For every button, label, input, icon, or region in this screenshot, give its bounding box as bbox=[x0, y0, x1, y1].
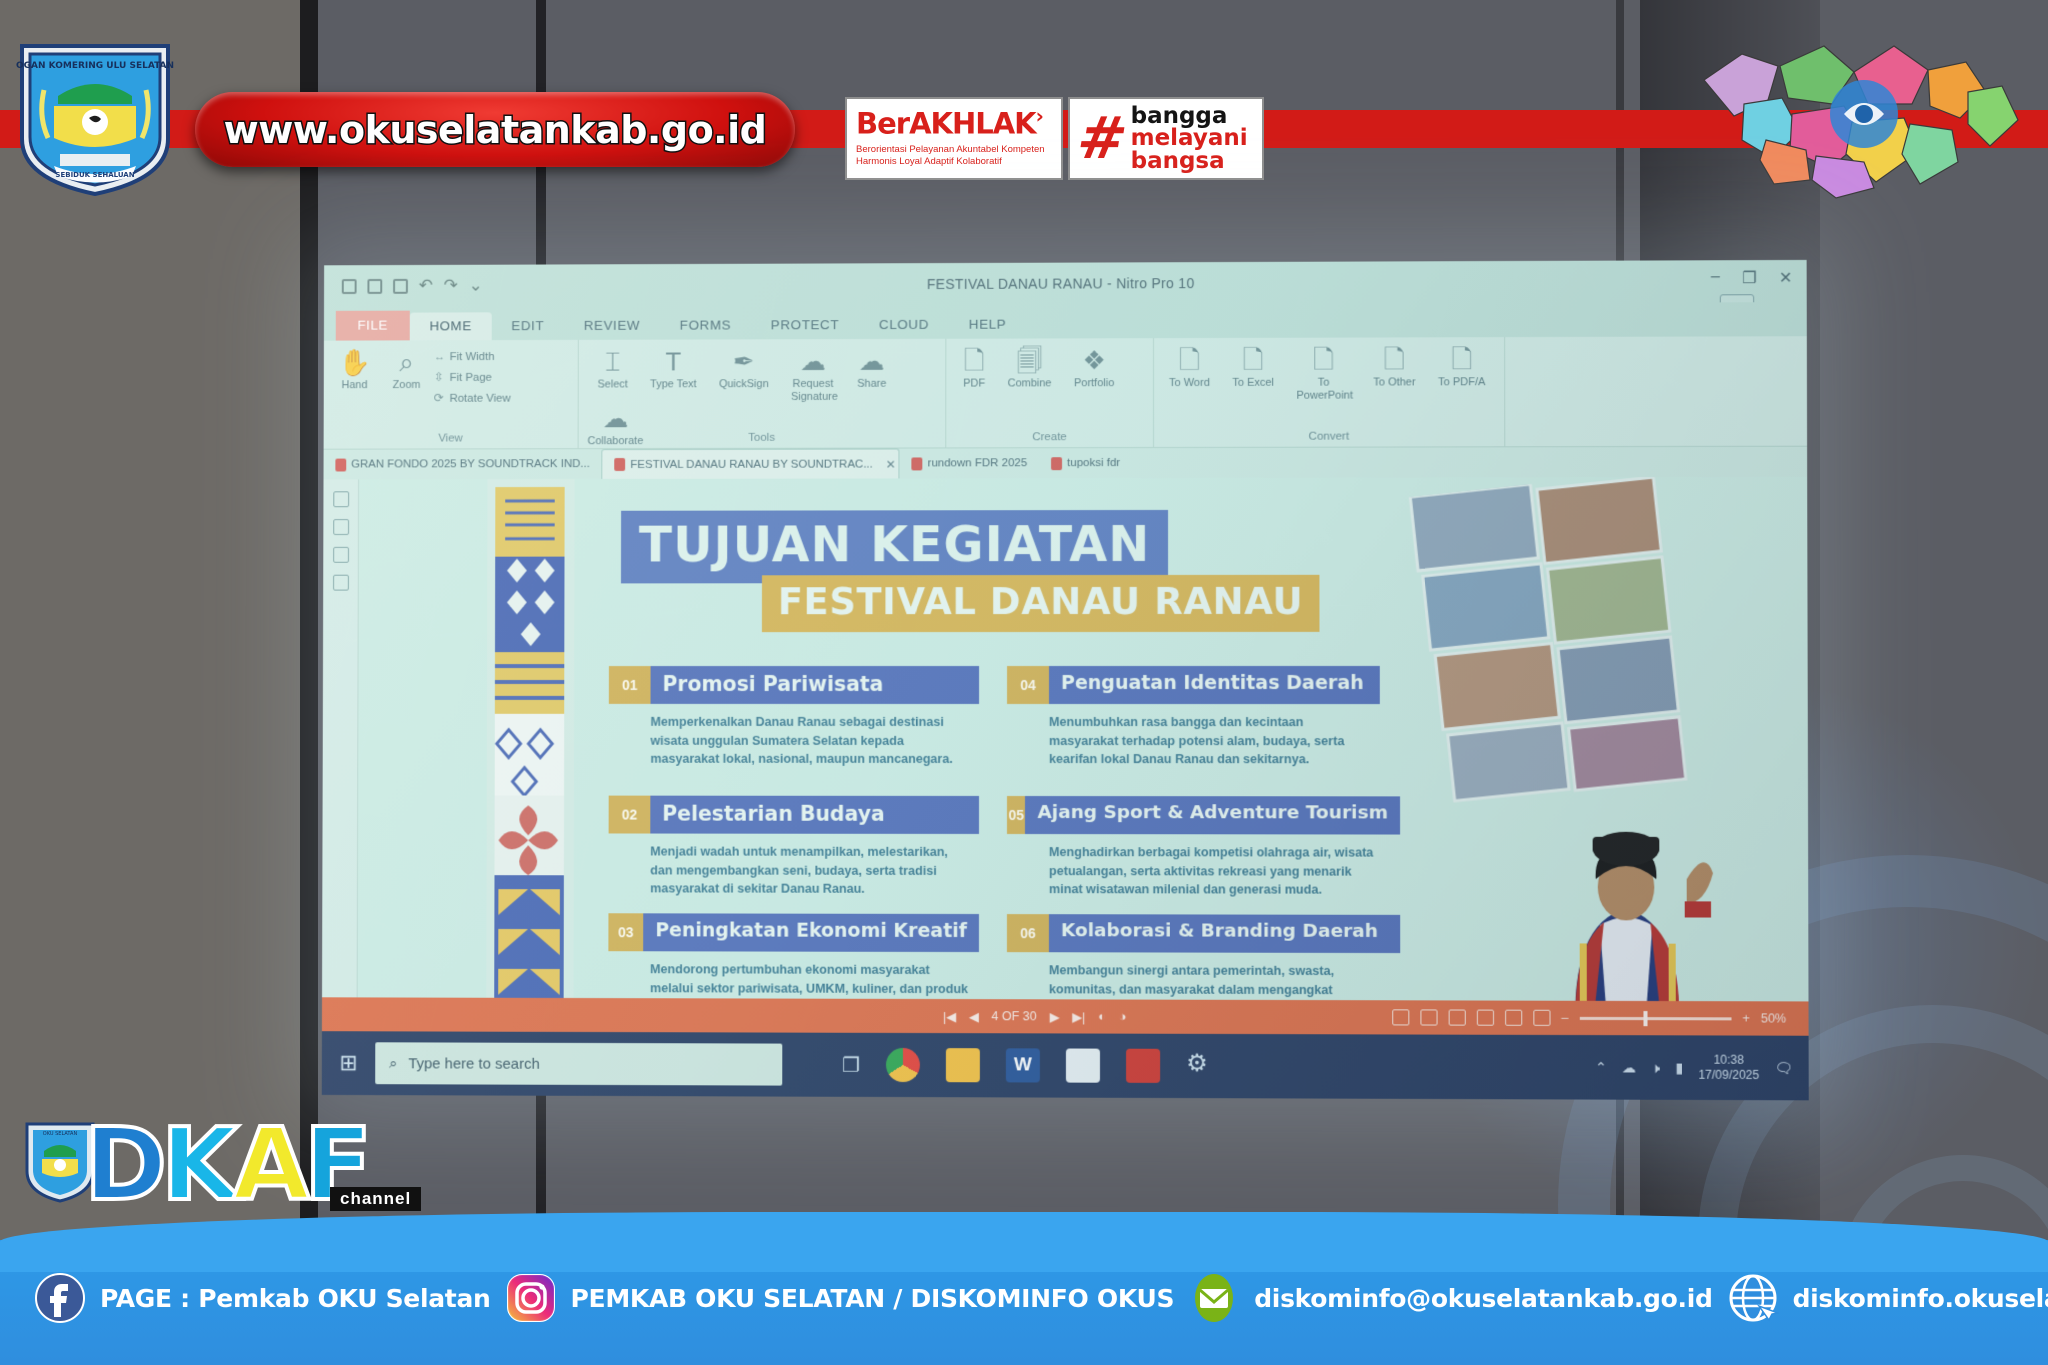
to-pdfa-icon: 🗋 bbox=[1438, 344, 1485, 374]
type-text-icon: T bbox=[650, 346, 697, 376]
continuous-icon[interactable] bbox=[1420, 1009, 1437, 1025]
fit-page-icon[interactable] bbox=[1505, 1010, 1522, 1026]
window-title: FESTIVAL DANAU RANAU - Nitro Pro 10 bbox=[324, 273, 1807, 294]
windows-start-icon[interactable]: ⊞ bbox=[322, 1050, 375, 1076]
next-page-icon[interactable]: ▶ bbox=[1050, 1009, 1060, 1024]
slide-canvas: TUJUAN KEGIATAN FESTIVAL DANAU RANAU 01 … bbox=[358, 477, 1809, 1036]
hand-icon: ✋ bbox=[339, 347, 371, 377]
next-view-icon[interactable]: ◑ bbox=[1119, 1010, 1127, 1024]
pdf-viewer: TUJUAN KEGIATAN FESTIVAL DANAU RANAU 01 … bbox=[322, 477, 1809, 1036]
hashtag-icon: # bbox=[1074, 115, 1130, 161]
clock-date: 17/09/2025 bbox=[1698, 1068, 1759, 1083]
to-other-label: To Other bbox=[1373, 376, 1415, 389]
select-label: Select bbox=[598, 378, 628, 391]
dkaf-letter-a: A bbox=[233, 1106, 304, 1223]
request-signature-label: Request Signature bbox=[791, 378, 835, 403]
website-icon[interactable] bbox=[1727, 1272, 1779, 1324]
footer-curve bbox=[0, 1212, 2048, 1272]
ribbon-hand-tool[interactable]: ✋ Hand bbox=[330, 347, 380, 391]
goal-description: Menghadirkan berbagai kompetisi olahraga… bbox=[1049, 843, 1386, 900]
website-url-badge[interactable]: www.okuselatankab.go.id bbox=[195, 92, 795, 167]
nitro-file-icon bbox=[615, 458, 626, 471]
document-tab-label: FESTIVAL DANAU RANAU BY SOUNDTRAC... bbox=[630, 458, 872, 470]
page-indicator[interactable]: 4 OF 30 bbox=[991, 1009, 1036, 1023]
ribbon-group-convert: 🗋To Word 🗋To Excel 🗋To PowerPoint 🗋To Ot… bbox=[1154, 337, 1505, 448]
ribbon-tab-strip[interactable]: FILEHOMEEDITREVIEWFORMSPROTECTCLOUDHELP bbox=[324, 302, 1807, 341]
nitro-file-icon bbox=[912, 457, 923, 470]
document-tab-strip[interactable]: GRAN FONDO 2025 BY SOUNDTRACK IND...FEST… bbox=[324, 447, 1808, 480]
dkaf-letter-k: K bbox=[161, 1106, 233, 1223]
ribbon-tab-forms[interactable]: FORMS bbox=[660, 312, 751, 340]
two-page-icon[interactable] bbox=[1448, 1009, 1465, 1025]
berakhlak-title: BerAKHLAK› bbox=[856, 106, 1052, 139]
bangga-word-1: bangga bbox=[1131, 105, 1248, 128]
ribbon-fit-width[interactable]: ↔Fit Width bbox=[434, 351, 511, 363]
goal-number: 04 bbox=[1007, 666, 1049, 704]
document-tab[interactable]: FESTIVAL DANAU RANAU BY SOUNDTRAC...✕ bbox=[602, 449, 900, 479]
ribbon-type-text-tool[interactable]: TType Text bbox=[641, 346, 705, 390]
fit-width-icon[interactable] bbox=[1533, 1010, 1550, 1026]
zoom-out-icon[interactable]: – bbox=[1561, 1011, 1568, 1025]
to-excel-label: To Excel bbox=[1232, 377, 1274, 390]
bangga-word-2: melayani bbox=[1131, 127, 1248, 150]
goal-number: 02 bbox=[609, 796, 651, 834]
social-links[interactable]: PAGE : Pemkab OKU Selatan PEMKAB OKU SEL… bbox=[0, 1272, 2048, 1324]
ribbon-tab-cloud[interactable]: CLOUD bbox=[859, 311, 949, 339]
goal-item-04: 04 Penguatan Identitas Daerah Menumbuhka… bbox=[1007, 666, 1380, 769]
search-placeholder: Type here to search bbox=[408, 1055, 539, 1072]
pdf-status-bar[interactable]: |◀ ◀ 4 OF 30 ▶ ▶| ◐ ◑ – + 50% bbox=[322, 997, 1809, 1035]
pdf-icon: 🗋 bbox=[963, 346, 985, 376]
select-icon: ⌶ bbox=[598, 347, 628, 377]
goal-head: 04 Penguatan Identitas Daerah bbox=[1007, 666, 1380, 704]
pdf-side-pane[interactable] bbox=[322, 479, 359, 1031]
to-other-icon: 🗋 bbox=[1373, 344, 1415, 374]
fit-page-label: Fit Page bbox=[450, 372, 492, 384]
nitro-pro-icon[interactable] bbox=[1126, 1049, 1160, 1083]
ribbon-view-stack[interactable]: ↔Fit Width ⇳Fit Page ⟳Rotate View bbox=[434, 347, 511, 412]
close-button[interactable]: ✕ bbox=[1779, 268, 1793, 288]
zoom-slider[interactable] bbox=[1579, 1016, 1731, 1019]
to-powerpoint-icon: 🗋 bbox=[1296, 345, 1350, 375]
rotate-view-icon: ⟳ bbox=[434, 391, 450, 405]
svg-text:SEBIDUK SEHALUAN: SEBIDUK SEHALUAN bbox=[55, 171, 134, 179]
share-icon: ☁ bbox=[857, 346, 886, 376]
document-tab-label: GRAN FONDO 2025 BY SOUNDTRACK IND... bbox=[351, 458, 590, 470]
berakhlak-logo: BerAKHLAK› Berorientasi Pelayanan Akunta… bbox=[845, 97, 1063, 180]
word-icon[interactable]: W bbox=[1006, 1048, 1040, 1082]
document-tab-label: rundown FDR 2025 bbox=[928, 457, 1027, 469]
pdf-label: PDF bbox=[963, 378, 985, 391]
prev-page-icon[interactable]: ◀ bbox=[969, 1009, 979, 1024]
task-view-icon[interactable]: ❐ bbox=[842, 1052, 860, 1077]
goal-title: Peningkatan Ekonomi Kreatif bbox=[643, 913, 979, 952]
document-tab[interactable]: rundown FDR 2025 bbox=[900, 448, 1039, 478]
ribbon-to-excel[interactable]: 🗋To Excel bbox=[1223, 345, 1283, 390]
to-pdfa-label: To PDF/A bbox=[1438, 376, 1485, 389]
ribbon-tab-protect[interactable]: PROTECT bbox=[751, 311, 859, 339]
document-tab-label: tupoksi fdr bbox=[1067, 457, 1120, 469]
slide-subtitle-banner: FESTIVAL DANAU RANAU bbox=[762, 575, 1319, 632]
nitro-file-icon bbox=[335, 458, 346, 471]
slide-subtitle: FESTIVAL DANAU RANAU bbox=[778, 580, 1303, 623]
ribbon-body: ✋ Hand ⌕ Zoom ↔Fit Width ⇳Fit Page ⟳Rota… bbox=[324, 336, 1807, 449]
share-label: Share bbox=[857, 378, 886, 391]
bangga-words: bangga melayani bangsa bbox=[1131, 105, 1248, 173]
svg-text:OKU SELATAN: OKU SELATAN bbox=[43, 1131, 78, 1137]
taskbar-apps[interactable]: ❐ W ⚙ bbox=[842, 1048, 1220, 1083]
bangga-word-3: bangsa bbox=[1131, 150, 1248, 173]
goal-number: 06 bbox=[1007, 914, 1049, 952]
pages-panel-icon[interactable] bbox=[333, 491, 349, 507]
bangga-melayani-bangsa-logo: # bangga melayani bangsa bbox=[1068, 97, 1264, 180]
ribbon-group-view: ✋ Hand ⌕ Zoom ↔Fit Width ⇳Fit Page ⟳Rota… bbox=[324, 340, 579, 450]
search-input[interactable]: ⌕ Type here to search bbox=[375, 1042, 782, 1085]
goal-title: Penguatan Identitas Daerah bbox=[1049, 666, 1380, 704]
to-powerpoint-label: To PowerPoint bbox=[1296, 377, 1350, 402]
ribbon-tab-review[interactable]: REVIEW bbox=[564, 312, 660, 340]
goal-title: Pelestarian Budaya bbox=[650, 796, 979, 834]
ribbon-request-signature-tool[interactable]: ☁Request Signature bbox=[782, 346, 844, 403]
page-navigation[interactable]: |◀ ◀ 4 OF 30 ▶ ▶| ◐ ◑ bbox=[943, 1009, 1126, 1025]
fit-page-icon: ⇳ bbox=[434, 370, 450, 384]
ribbon-group-tools-name: Tools bbox=[579, 431, 946, 444]
footer-bar: PAGE : Pemkab OKU Selatan PEMKAB OKU SEL… bbox=[0, 1240, 2048, 1365]
ribbon-hand-label: Hand bbox=[339, 379, 371, 391]
svg-text:OGAN KOMERING ULU SELATAN: OGAN KOMERING ULU SELATAN bbox=[16, 61, 174, 71]
ribbon-zoom-tool[interactable]: ⌕ Zoom bbox=[384, 347, 430, 391]
goal-description: Menjadi wadah untuk menampilkan, melesta… bbox=[650, 843, 969, 899]
notepad-icon[interactable] bbox=[1066, 1048, 1100, 1082]
zoom-in-icon[interactable]: + bbox=[1742, 1011, 1749, 1025]
facebook-text[interactable]: PAGE : Pemkab OKU Selatan bbox=[100, 1284, 491, 1313]
fit-width-label: Fit Width bbox=[450, 351, 495, 363]
berakhlak-tick-icon: › bbox=[1036, 104, 1043, 128]
first-page-icon[interactable]: |◀ bbox=[943, 1009, 956, 1024]
collaborate-icon: ☁ bbox=[588, 403, 644, 433]
request-signature-icon: ☁ bbox=[791, 346, 835, 376]
show-hidden-icon[interactable]: ⌃ bbox=[1595, 1059, 1607, 1076]
ribbon-group-create: 🗋PDF 🗐Combine ❖Portfolio Create bbox=[946, 338, 1154, 448]
volume-muted-icon[interactable]: 🕨 bbox=[1651, 1059, 1660, 1076]
berakhlak-title-text: BerAKHLAK bbox=[856, 107, 1036, 141]
ribbon-group-tools: ⌶Select TType Text ✒QuickSign ☁Request S… bbox=[579, 339, 947, 449]
view-and-zoom-controls[interactable]: – + 50% bbox=[1392, 1009, 1786, 1026]
document-tab[interactable]: GRAN FONDO 2025 BY SOUNDTRACK IND... bbox=[324, 449, 602, 479]
ribbon-to-powerpoint[interactable]: 🗋To PowerPoint bbox=[1287, 345, 1359, 402]
document-tab[interactable]: tupoksi fdr bbox=[1039, 448, 1132, 478]
goal-title: Kolaborasi & Branding Daerah bbox=[1049, 914, 1400, 953]
speaker-photo bbox=[1515, 728, 1748, 1035]
berakhlak-subtitle: Berorientasi Pelayanan Akuntabel Kompete… bbox=[856, 144, 1052, 168]
slide-title: TUJUAN KEGIATAN bbox=[639, 516, 1150, 573]
nitro-file-icon bbox=[1051, 457, 1062, 470]
grid-icon[interactable] bbox=[1477, 1010, 1494, 1026]
ribbon-select-tool[interactable]: ⌶Select bbox=[589, 347, 637, 391]
goal-title: Promosi Pariwisata bbox=[651, 666, 980, 704]
zoom-icon: ⌕ bbox=[393, 347, 421, 377]
ribbon-quicksign-tool[interactable]: ✒QuickSign bbox=[710, 346, 778, 390]
clock[interactable]: 10:38 17/09/2025 bbox=[1698, 1053, 1759, 1083]
minimize-button[interactable]: – bbox=[1711, 268, 1720, 288]
projected-screen: ↶ ↷ ⌄ FESTIVAL DANAU RANAU - Nitro Pro 1… bbox=[322, 260, 1809, 1100]
zoom-slider-handle[interactable] bbox=[1643, 1011, 1647, 1026]
goal-item-05: 05 Ajang Sport & Adventure Tourism Mengh… bbox=[1007, 796, 1400, 900]
quicksign-label: QuickSign bbox=[719, 378, 769, 391]
goal-description: Memperkenalkan Danau Ranau sebagai desti… bbox=[650, 713, 969, 769]
last-page-icon[interactable]: ▶| bbox=[1072, 1009, 1085, 1024]
instagram-text[interactable]: PEMKAB OKU SELATAN / DISKOMINFO OKUS bbox=[571, 1284, 1175, 1313]
close-tab-icon[interactable]: ✕ bbox=[886, 457, 896, 471]
website-text[interactable]: diskominfo.okuselatankab.go.id bbox=[1793, 1284, 2048, 1313]
goal-head: 03 Peningkatan Ekonomi Kreatif bbox=[608, 913, 979, 952]
rotate-view-label: Rotate View bbox=[449, 393, 510, 405]
goal-item-02: 02 Pelestarian Budaya Menjadi wadah untu… bbox=[608, 796, 979, 899]
search-icon: ⌕ bbox=[389, 1055, 397, 1072]
ribbon-tab-edit[interactable]: EDIT bbox=[492, 312, 564, 340]
action-center-icon[interactable]: 🗨 bbox=[1774, 1059, 1792, 1076]
settings-icon[interactable]: ⚙ bbox=[1186, 1049, 1220, 1083]
songket-pattern-icon bbox=[494, 487, 564, 1025]
window-controls[interactable]: – ❐ ✕ bbox=[1711, 268, 1793, 288]
goal-title: Ajang Sport & Adventure Tourism bbox=[1025, 796, 1400, 835]
ribbon-group-convert-name: Convert bbox=[1154, 430, 1504, 443]
berakhlak-line1: Berorientasi Pelayanan Akuntabel Kompete… bbox=[856, 144, 1045, 155]
screenshot-root: OGAN KOMERING ULU SELATAN SEBIDUK SEHALU… bbox=[0, 0, 2048, 1365]
slide-title-banner: TUJUAN KEGIATAN bbox=[621, 510, 1168, 583]
oku-selatan-crest-icon: OGAN KOMERING ULU SELATAN SEBIDUK SEHALU… bbox=[10, 34, 180, 199]
file-explorer-icon[interactable] bbox=[946, 1048, 980, 1082]
layers-panel-icon[interactable] bbox=[333, 547, 349, 563]
goal-number: 03 bbox=[608, 913, 643, 951]
ribbon-to-word[interactable]: 🗋To Word bbox=[1160, 345, 1219, 390]
ribbon-tab-file[interactable]: FILE bbox=[336, 311, 410, 341]
goal-number: 05 bbox=[1007, 796, 1025, 834]
ribbon-combine[interactable]: 🗐Combine bbox=[999, 345, 1061, 390]
goal-head: 05 Ajang Sport & Adventure Tourism bbox=[1007, 796, 1400, 835]
to-word-icon: 🗋 bbox=[1169, 345, 1210, 375]
goal-number: 01 bbox=[609, 666, 651, 704]
goal-head: 02 Pelestarian Budaya bbox=[609, 796, 979, 834]
ribbon-portfolio[interactable]: ❖Portfolio bbox=[1065, 345, 1123, 390]
ribbon-to-other[interactable]: 🗋To Other bbox=[1364, 344, 1425, 389]
zoom-level[interactable]: 50% bbox=[1761, 1011, 1786, 1025]
berakhlak-line2: Harmonis Loyal Adaptif Kolaboratif bbox=[856, 156, 1002, 167]
ribbon-share-tool[interactable]: ☁Share bbox=[848, 346, 895, 390]
dkaf-letter-d: D bbox=[84, 1106, 161, 1223]
portfolio-icon: ❖ bbox=[1074, 345, 1114, 375]
ribbon-rotate-view[interactable]: ⟳Rotate View bbox=[434, 391, 511, 405]
goal-item-01: 01 Promosi Pariwisata Memperkenalkan Dan… bbox=[609, 666, 979, 769]
ribbon-tab-help[interactable]: HELP bbox=[949, 311, 1026, 339]
clock-time: 10:38 bbox=[1698, 1053, 1759, 1068]
combine-icon: 🗐 bbox=[1008, 345, 1052, 375]
goal-head: 06 Kolaborasi & Branding Daerah bbox=[1007, 914, 1400, 953]
network-icon[interactable]: ▮ bbox=[1675, 1059, 1683, 1076]
facebook-icon[interactable] bbox=[34, 1272, 86, 1324]
ribbon-tab-home[interactable]: HOME bbox=[410, 312, 492, 340]
instagram-icon[interactable] bbox=[505, 1272, 557, 1324]
dkaf-channel-label: channel bbox=[330, 1187, 421, 1211]
ribbon-zoom-label: Zoom bbox=[393, 379, 421, 391]
windows-taskbar[interactable]: ⊞ ⌕ Type here to search ❐ W ⚙ ⌃ ☁ 🕨 ▮ bbox=[322, 1031, 1809, 1100]
quicksign-icon: ✒ bbox=[719, 346, 769, 376]
to-word-label: To Word bbox=[1169, 377, 1210, 390]
ribbon-to-pdfa[interactable]: 🗋To PDF/A bbox=[1429, 344, 1495, 389]
dkaf-wordmark: DKAF bbox=[84, 1115, 366, 1215]
website-url-text: www.okuselatankab.go.id bbox=[224, 108, 767, 152]
single-page-icon[interactable] bbox=[1392, 1009, 1409, 1025]
onedrive-icon[interactable]: ☁ bbox=[1622, 1059, 1636, 1076]
to-excel-icon: 🗋 bbox=[1232, 345, 1274, 375]
email-text[interactable]: diskominfo@okuselatankab.go.id bbox=[1254, 1284, 1712, 1313]
type-text-label: Type Text bbox=[650, 378, 697, 391]
south-sumatra-map-icon bbox=[1696, 28, 2026, 203]
fit-width-icon: ↔ bbox=[434, 351, 450, 363]
prev-view-icon[interactable]: ◐ bbox=[1098, 1009, 1106, 1023]
email-icon[interactable] bbox=[1188, 1272, 1240, 1324]
maximize-button[interactable]: ❐ bbox=[1742, 268, 1757, 288]
combine-label: Combine bbox=[1008, 377, 1052, 390]
ribbon-fit-page[interactable]: ⇳Fit Page bbox=[434, 370, 511, 384]
portfolio-label: Portfolio bbox=[1074, 377, 1114, 390]
ribbon-group-create-name: Create bbox=[946, 431, 1153, 443]
ribbon-create-pdf[interactable]: 🗋PDF bbox=[954, 346, 994, 390]
attachments-panel-icon[interactable] bbox=[333, 575, 349, 591]
chrome-icon[interactable] bbox=[886, 1048, 920, 1082]
goal-description: Menumbuhkan rasa bangga dan kecintaan ma… bbox=[1049, 713, 1370, 769]
ribbon-group-view-name: View bbox=[324, 432, 578, 444]
system-tray[interactable]: ⌃ ☁ 🕨 ▮ 10:38 17/09/2025 🗨 bbox=[1595, 1052, 1793, 1083]
bookmarks-panel-icon[interactable] bbox=[333, 519, 349, 535]
goal-head: 01 Promosi Pariwisata bbox=[609, 666, 979, 704]
